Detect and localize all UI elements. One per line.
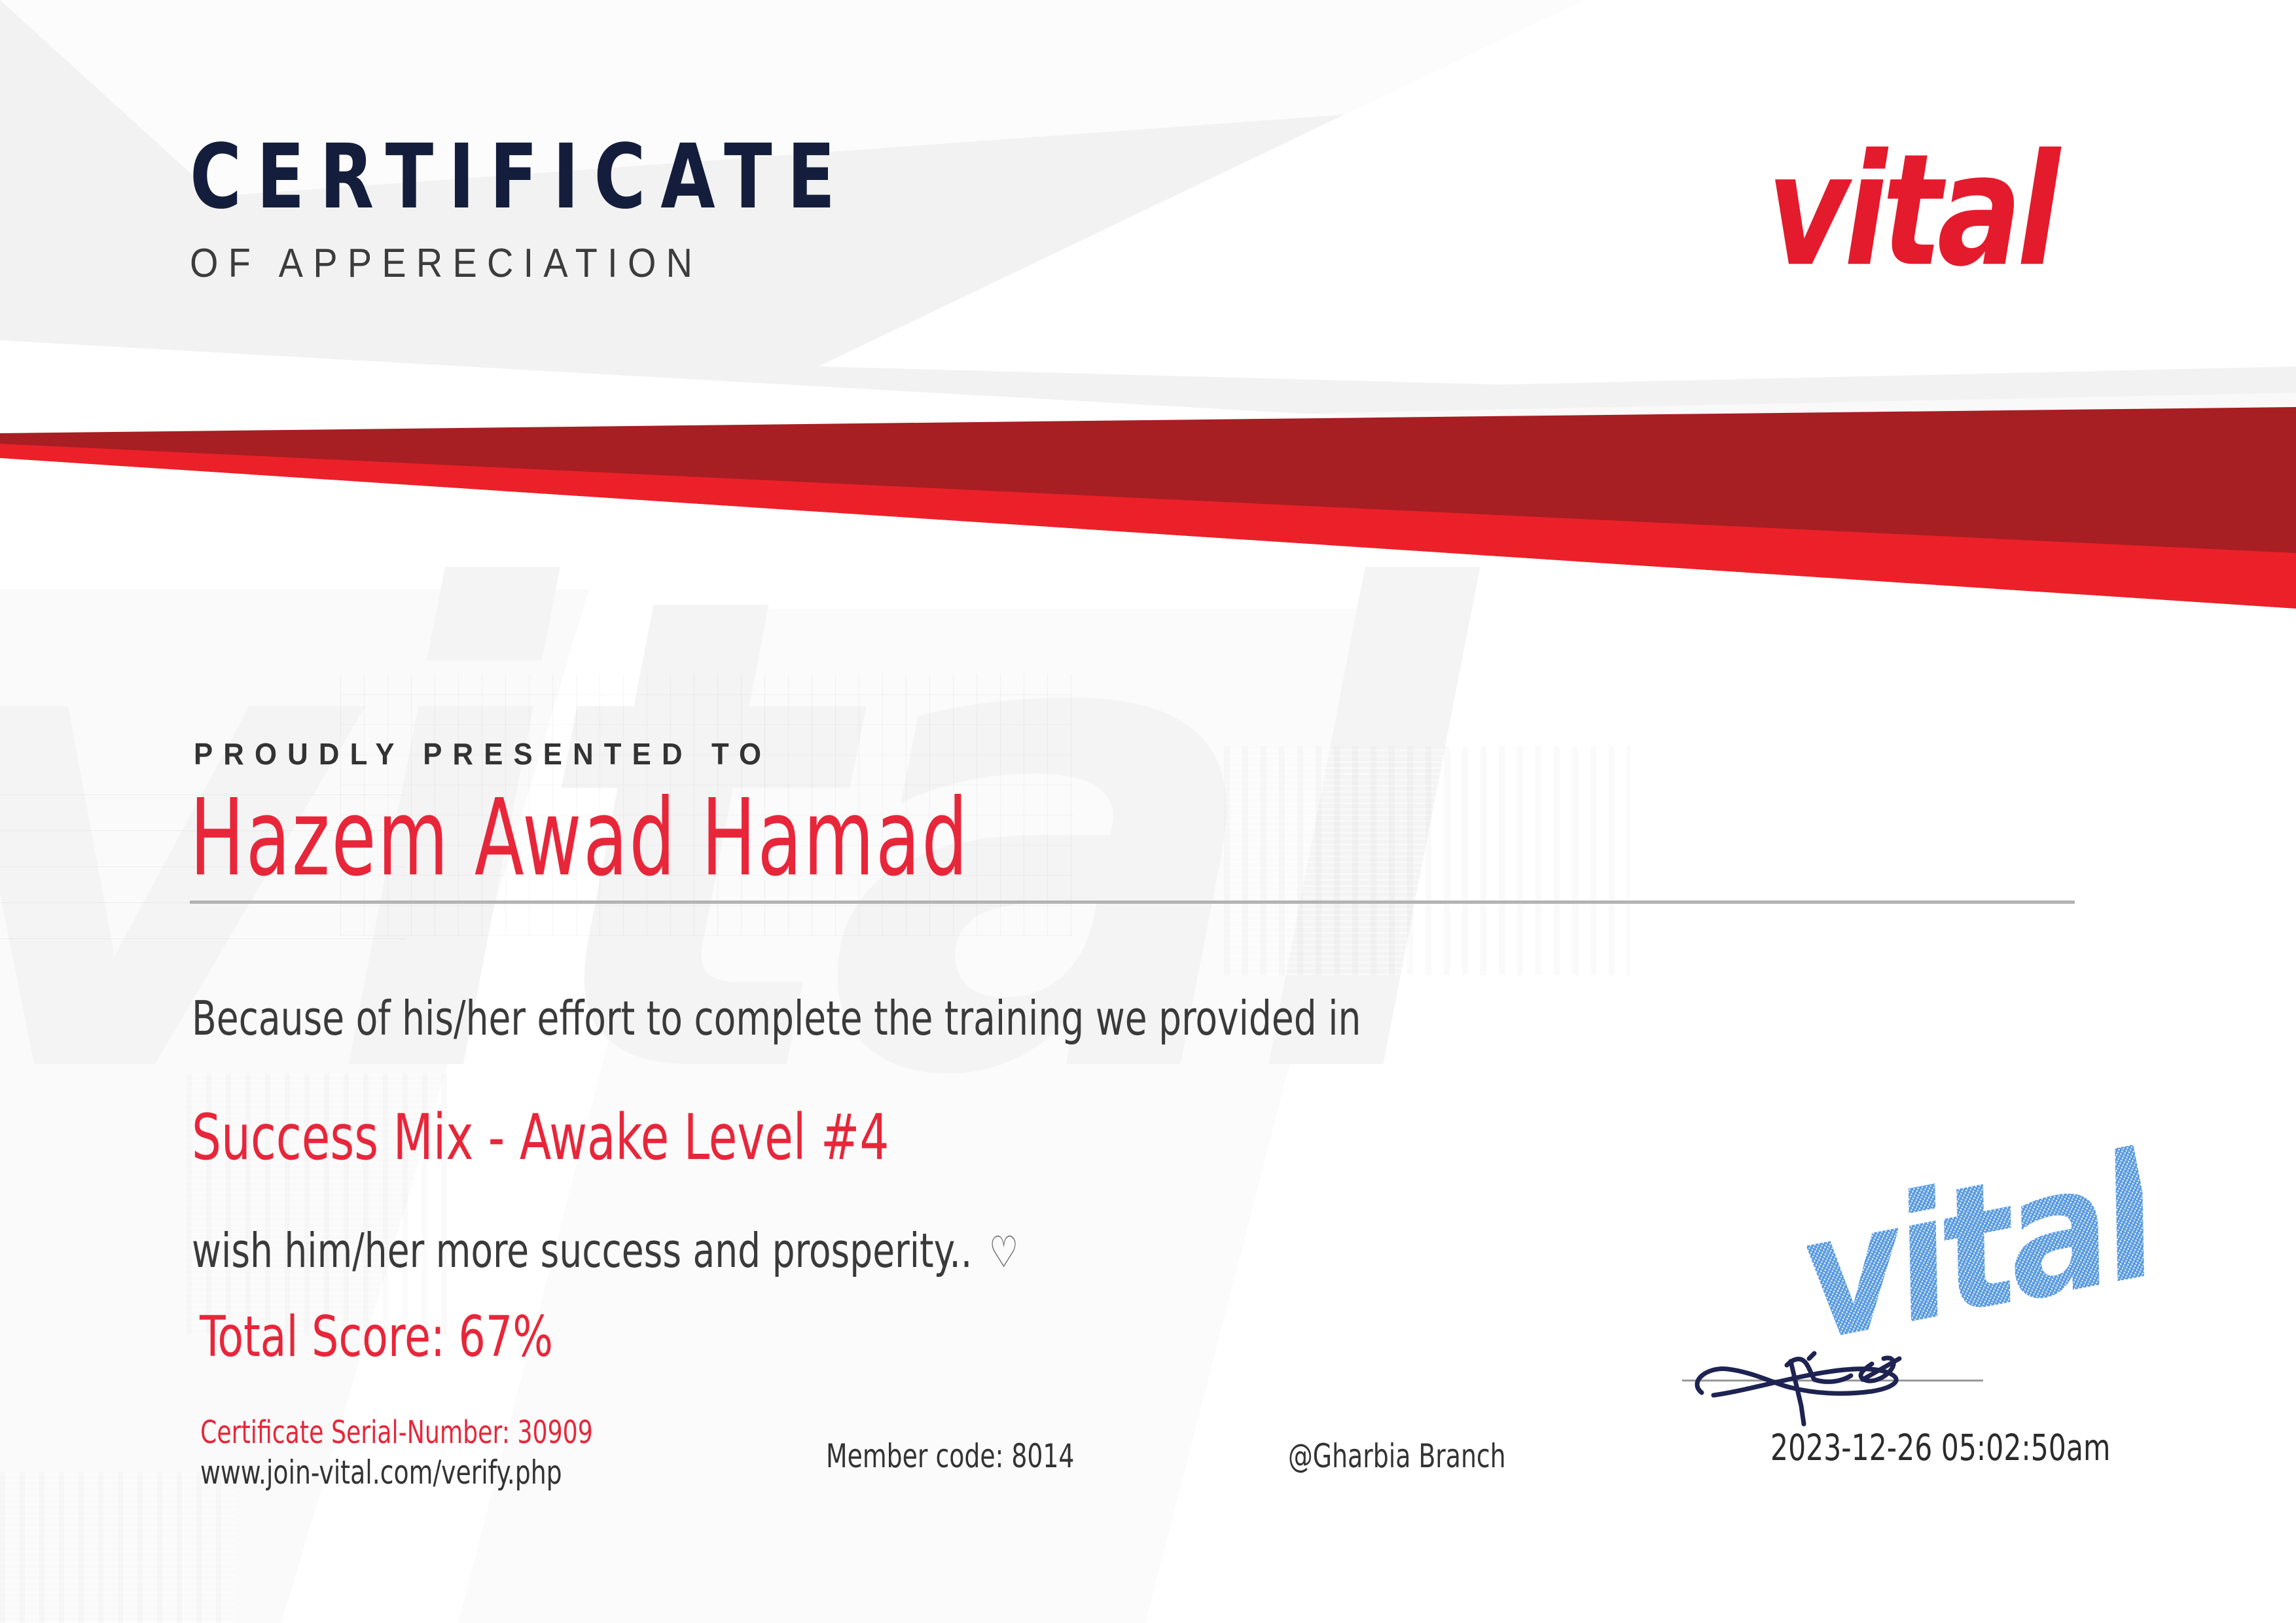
recipient-name: Hazem Awad Hamad — [190, 785, 969, 891]
stamp-and-signature: vital 2023-12-26 05:02:50am — [1676, 1198, 2173, 1505]
signature-icon — [1676, 1296, 2022, 1427]
certificate-subtitle: OF APPERECIATION — [190, 240, 865, 287]
verify-url[interactable]: www.join-vital.com/verify.php — [200, 1456, 562, 1489]
reason-line: Because of his/her effort to complete th… — [192, 995, 1361, 1042]
total-score: Total Score: 67% — [200, 1309, 553, 1365]
heart-icon: ♡ — [989, 1231, 1018, 1274]
vital-logo: vital — [1767, 134, 2055, 289]
wish-line-text: wish him/her more success and prosperity… — [192, 1227, 972, 1274]
course-name: Success Mix - Awake Level #4 — [192, 1106, 889, 1169]
issue-date: 2023-12-26 05:02:50am — [1770, 1430, 2110, 1466]
member-code: Member code: 8014 — [826, 1440, 1074, 1472]
presented-to-label: PROUDLY PRESENTED TO — [194, 736, 772, 772]
title-block: CERTIFICATE OF APPERECIATION — [190, 131, 941, 287]
name-underline-rule — [190, 901, 2075, 904]
certificate-title: CERTIFICATE — [190, 131, 850, 224]
certificate-page: vital CERTIFICATE OF APPERECIATION vital… — [0, 0, 2296, 1623]
certificate-serial-number: Certificate Serial-Number: 30909 — [200, 1417, 593, 1448]
branch-name: @Gharbia Branch — [1288, 1440, 1506, 1472]
wish-line-row: wish him/her more success and prosperity… — [192, 1227, 1018, 1274]
